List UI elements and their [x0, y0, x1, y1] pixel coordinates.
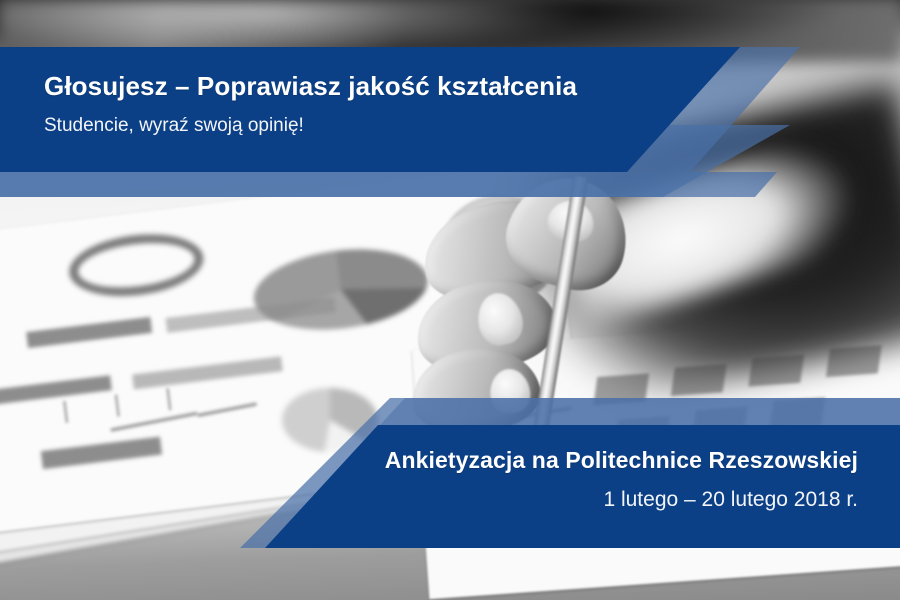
ring-chart	[66, 227, 207, 303]
top-banner-text: Głosujesz – Poprawiasz jakość kształceni…	[44, 70, 644, 137]
bar-mark	[132, 356, 283, 389]
poster-subheadline: Studencie, wyraź swoją opinię!	[44, 114, 644, 138]
text-line	[197, 403, 256, 417]
bar-mark	[26, 317, 152, 348]
pie-chart	[249, 240, 432, 339]
text-line	[111, 412, 198, 432]
bar-mark	[0, 375, 112, 408]
bottom-banner-text: Ankietyzacja na Politechnice Rzeszowskie…	[218, 446, 858, 513]
axis-tick	[166, 388, 172, 410]
event-date-range: 1 lutego – 20 lutego 2018 r.	[218, 486, 858, 513]
bar-mark	[41, 437, 162, 469]
promo-poster: Głosujesz – Poprawiasz jakość kształceni…	[0, 0, 900, 600]
event-title: Ankietyzacja na Politechnice Rzeszowskie…	[218, 446, 858, 476]
poster-headline: Głosujesz – Poprawiasz jakość kształceni…	[44, 70, 644, 103]
axis-tick	[63, 401, 69, 423]
axis-tick	[114, 394, 120, 416]
